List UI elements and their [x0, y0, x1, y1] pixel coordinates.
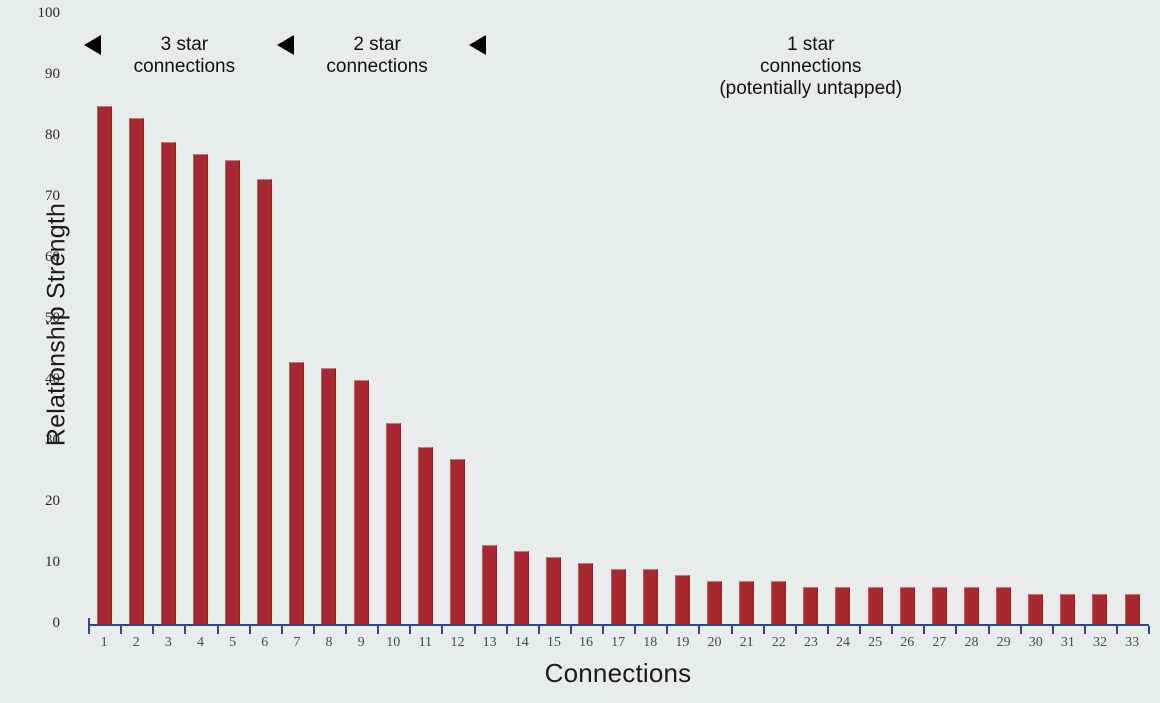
y-axis-tick-label: 0: [14, 615, 60, 632]
bar: [97, 106, 112, 625]
bar-slot: [249, 14, 281, 624]
bar: [611, 569, 626, 624]
x-axis-tick-label: 1: [88, 635, 120, 657]
bar: [1028, 594, 1043, 625]
x-axis-tick: [249, 626, 281, 634]
y-axis-tick-label: 40: [14, 371, 60, 388]
bar-chart: Relationship Strength 100908070605040302…: [0, 0, 1160, 703]
x-axis-tick-label: 15: [538, 635, 570, 657]
x-axis-ticks: [88, 626, 1148, 634]
x-axis-tick-label: 22: [763, 635, 795, 657]
x-axis-tick: [409, 626, 441, 634]
y-axis-tick-label: 50: [14, 310, 60, 327]
bar: [964, 587, 979, 624]
bar: [321, 368, 336, 624]
x-axis-tick: [88, 626, 120, 634]
x-axis-tick: [602, 626, 634, 634]
bar: [771, 581, 786, 624]
x-axis-tick-label: 6: [249, 635, 281, 657]
x-axis-tick: [763, 626, 795, 634]
x-axis-tick: [891, 626, 923, 634]
x-axis-tick: [1084, 626, 1116, 634]
bar: [932, 587, 947, 624]
x-axis-tick-label: 10: [377, 635, 409, 657]
bar-slot: [538, 14, 570, 624]
bar: [707, 581, 722, 624]
bar-slot: [1052, 14, 1084, 624]
y-axis-tick-label: 60: [14, 249, 60, 266]
bar-slot: [763, 14, 795, 624]
x-axis-tick: [217, 626, 249, 634]
bar-slot: [602, 14, 634, 624]
x-axis-tick-label: 14: [506, 635, 538, 657]
x-axis-tick-label: 11: [409, 635, 441, 657]
x-axis-tick-label: 21: [731, 635, 763, 657]
bar-slot: [988, 14, 1020, 624]
bar-slot: [506, 14, 538, 624]
bar: [193, 154, 208, 624]
x-axis-tick-label: 18: [634, 635, 666, 657]
plot-area: [88, 14, 1148, 624]
x-axis-tick-labels: 1234567891011121314151617181920212223242…: [88, 635, 1148, 657]
x-axis-tick-label: 4: [184, 635, 216, 657]
x-axis-tick-label: 9: [345, 635, 377, 657]
bar-slot: [827, 14, 859, 624]
x-axis-tick: [634, 626, 666, 634]
bar: [546, 557, 561, 624]
bar: [835, 587, 850, 624]
bar: [289, 362, 304, 624]
x-axis-tick: [1052, 626, 1084, 634]
y-axis-tick-label: 20: [14, 493, 60, 510]
bar-slot: [345, 14, 377, 624]
x-axis-tick-label: 29: [988, 635, 1020, 657]
bar-slot: [891, 14, 923, 624]
x-axis-tick: [281, 626, 313, 634]
x-axis-tick: [795, 626, 827, 634]
x-axis-tick: [441, 626, 473, 634]
y-axis-tick-label: 30: [14, 432, 60, 449]
x-axis-tick-label: 24: [827, 635, 859, 657]
bar-slot: [1116, 14, 1148, 624]
x-axis-tick-label: 25: [859, 635, 891, 657]
bar: [739, 581, 754, 624]
x-axis-tick-label: 19: [666, 635, 698, 657]
x-axis-tick: [698, 626, 730, 634]
bar: [514, 551, 529, 624]
bar-slot: [474, 14, 506, 624]
bar-slot: [923, 14, 955, 624]
x-axis-tick-label: 5: [217, 635, 249, 657]
x-axis-tick-label: 32: [1084, 635, 1116, 657]
bar-slot: [795, 14, 827, 624]
bar-slot: [955, 14, 987, 624]
bar-slot: [377, 14, 409, 624]
x-axis-tick-label: 7: [281, 635, 313, 657]
bar: [868, 587, 883, 624]
bar-series: [88, 14, 1148, 624]
x-axis-tick: [570, 626, 602, 634]
bar-slot: [1084, 14, 1116, 624]
x-axis-title: Connections: [88, 658, 1148, 689]
x-axis-tick-label: 27: [923, 635, 955, 657]
bar: [643, 569, 658, 624]
x-axis-tick: [538, 626, 570, 634]
x-axis-tick: [474, 626, 506, 634]
x-axis-tick-label: 20: [698, 635, 730, 657]
x-axis-tick-label: 26: [891, 635, 923, 657]
x-axis-tick: [377, 626, 409, 634]
x-axis-tick-label: 28: [955, 635, 987, 657]
x-axis-tick: [859, 626, 891, 634]
bar: [1060, 594, 1075, 625]
bar-slot: [570, 14, 602, 624]
bar: [1125, 594, 1140, 625]
x-axis-tick-label: 16: [570, 635, 602, 657]
x-axis-tick-label: 12: [441, 635, 473, 657]
x-axis-tick: [345, 626, 377, 634]
x-axis-tick: [1116, 626, 1148, 634]
x-axis-tick-label: 33: [1116, 635, 1148, 657]
bar: [386, 423, 401, 624]
x-axis-tick: [955, 626, 987, 634]
y-axis-tick-label: 100: [14, 5, 60, 22]
x-axis-tick-label: 8: [313, 635, 345, 657]
bar: [900, 587, 915, 624]
x-axis-tick-label: 30: [1020, 635, 1052, 657]
x-axis-tick: [827, 626, 859, 634]
bar: [161, 142, 176, 624]
bar: [996, 587, 1011, 624]
bar: [129, 118, 144, 624]
x-axis-tick-label: 23: [795, 635, 827, 657]
bar-slot: [1020, 14, 1052, 624]
bar-slot: [859, 14, 891, 624]
bar-slot: [634, 14, 666, 624]
bar: [418, 447, 433, 624]
x-axis-tick: [184, 626, 216, 634]
x-axis-tick: [313, 626, 345, 634]
bar-slot: [184, 14, 216, 624]
bar: [675, 575, 690, 624]
bar-slot: [731, 14, 763, 624]
x-axis-tick-label: 17: [602, 635, 634, 657]
x-axis-tick: [731, 626, 763, 634]
bar: [225, 160, 240, 624]
x-axis-tick: [152, 626, 184, 634]
x-axis-tick: [988, 626, 1020, 634]
bar: [803, 587, 818, 624]
y-axis-tick-label: 10: [14, 554, 60, 571]
bar: [354, 380, 369, 624]
x-axis-tick: [666, 626, 698, 634]
x-axis-tick-label: 31: [1052, 635, 1084, 657]
x-axis-tick-label: 13: [474, 635, 506, 657]
bar: [482, 545, 497, 624]
bar: [257, 179, 272, 624]
bar-slot: [281, 14, 313, 624]
bar: [578, 563, 593, 624]
x-axis-tick-label: 2: [120, 635, 152, 657]
x-axis-tick-label: 3: [152, 635, 184, 657]
y-axis-tick-label: 80: [14, 127, 60, 144]
bar-slot: [217, 14, 249, 624]
bar-slot: [88, 14, 120, 624]
bar-slot: [409, 14, 441, 624]
bar-slot: [152, 14, 184, 624]
bar-slot: [698, 14, 730, 624]
x-axis-tick: [506, 626, 538, 634]
x-axis-tick: [1020, 626, 1052, 634]
bar-slot: [666, 14, 698, 624]
x-axis-tick: [120, 626, 152, 634]
bar-slot: [313, 14, 345, 624]
y-axis-tick-labels: 1009080706050403020100: [14, 0, 60, 703]
bar: [1092, 594, 1107, 625]
bar: [450, 459, 465, 624]
y-axis-tick-label: 70: [14, 188, 60, 205]
bar-slot: [120, 14, 152, 624]
x-axis-tick: [923, 626, 955, 634]
bar-slot: [441, 14, 473, 624]
